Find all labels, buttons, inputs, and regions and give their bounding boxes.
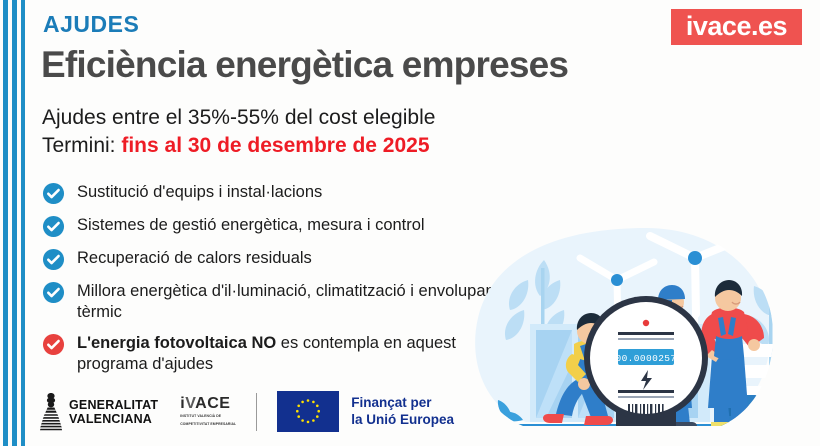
deadline-value: fins al 30 de desembre de 2025 xyxy=(121,134,429,157)
ivace-subtitle-line-2: COMPETITIVITAT EMPRESARIAL xyxy=(180,422,236,427)
page-title: Eficiència energètica empreses xyxy=(41,44,568,86)
eu-funding-logo: Finançat per la Unió Europea xyxy=(277,391,454,432)
poster-canvas: ivace.es AJUDES Eficiència energètica em… xyxy=(0,0,820,446)
list-item: Millora energètica d'il·luminació, clima… xyxy=(42,280,512,323)
list-item: Recuperació de calors residuals xyxy=(42,247,512,271)
benefits-list: Sustitució d'equips i instal·lacions Sis… xyxy=(42,181,512,384)
check-circle-icon xyxy=(42,281,65,304)
check-circle-icon xyxy=(42,248,65,271)
stripe-1 xyxy=(3,0,8,446)
list-item-exclusion-label: L'energia fotovoltaica NO es contempla e… xyxy=(77,332,512,375)
eu-text-line-1: Finançat per xyxy=(351,395,454,411)
list-item-exclusion: L'energia fotovoltaica NO es contempla e… xyxy=(42,332,512,375)
stripe-2 xyxy=(12,0,17,446)
eu-funding-text: Finançat per la Unió Europea xyxy=(351,395,454,428)
ivace-letters-ace: ACE xyxy=(195,395,230,412)
ivace-letter-v: V xyxy=(185,395,195,412)
check-circle-red-icon xyxy=(42,333,65,356)
list-item: Sustitució d'equips i instal·lacions xyxy=(42,181,512,205)
list-item-label: Sustitució d'equips i instal·lacions xyxy=(77,181,322,203)
exclusion-emphasis: L'energia fotovoltaica NO xyxy=(77,334,276,352)
list-item-label: Sistemes de gestió energètica, mesura i … xyxy=(77,214,425,236)
deadline-label: Termini: xyxy=(42,134,121,157)
ivace-es-badge[interactable]: ivace.es xyxy=(671,9,802,45)
eu-flag-icon xyxy=(277,391,339,432)
energy-workers-illustration: 00.0000257 xyxy=(468,218,818,446)
subtitle-line-2: Termini: fins al 30 de desembre de 2025 xyxy=(42,132,435,160)
stripe-3 xyxy=(21,0,25,446)
gva-line-1: GENERALITAT xyxy=(69,398,158,412)
subtitle-block: Ajudes entre el 35%-55% del cost elegibl… xyxy=(42,104,435,161)
ivace-subtitle-line-1: INSTITUT VALENCIÀ DE xyxy=(180,414,236,419)
list-item-label: Millora energètica d'il·luminació, clima… xyxy=(77,280,512,323)
eu-text-line-2: la Unió Europea xyxy=(351,412,454,428)
list-item-label: Recuperació de calors residuals xyxy=(77,247,312,269)
subtitle-line-1: Ajudes entre el 35%-55% del cost elegibl… xyxy=(42,104,435,132)
kicker-label: AJUDES xyxy=(43,11,139,38)
meter-reading: 00.0000257 xyxy=(615,353,676,364)
left-stripes-decoration xyxy=(0,0,30,446)
generalitat-valenciana-logo: GENERALITAT VALENCIANA xyxy=(40,392,158,432)
gva-line-2: VALENCIANA xyxy=(69,412,158,426)
footer-divider xyxy=(256,393,257,431)
check-circle-icon xyxy=(42,182,65,205)
ivace-institutional-logo: iVACE INSTITUT VALENCIÀ DE COMPETITIVITA… xyxy=(180,396,236,426)
ivace-wordmark: iVACE xyxy=(180,396,236,412)
list-item: Sistemes de gestió energètica, mesura i … xyxy=(42,214,512,238)
footer-logos: GENERALITAT VALENCIANA iVACE INSTITUT VA… xyxy=(40,391,454,432)
gva-wordmark: GENERALITAT VALENCIANA xyxy=(69,398,158,426)
gva-crest-icon xyxy=(40,392,62,432)
check-circle-icon xyxy=(42,215,65,238)
